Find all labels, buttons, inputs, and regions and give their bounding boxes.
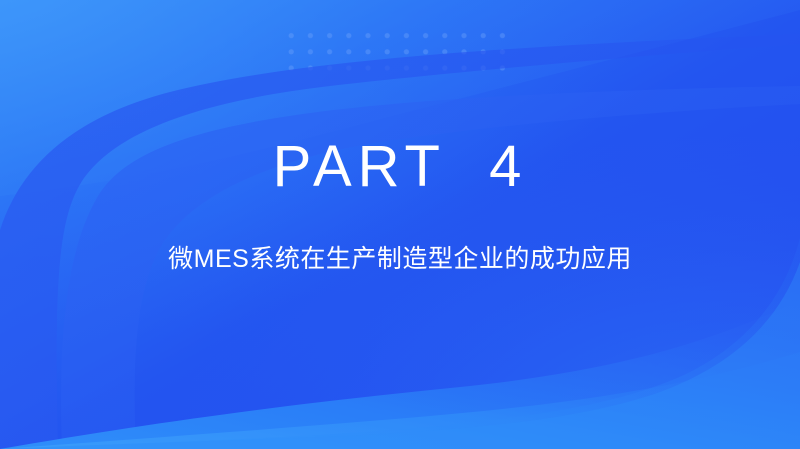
wave-bottom-right — [0, 0, 800, 449]
presentation-slide: PART 4 微MES系统在生产制造型企业的成功应用 — [0, 0, 800, 449]
